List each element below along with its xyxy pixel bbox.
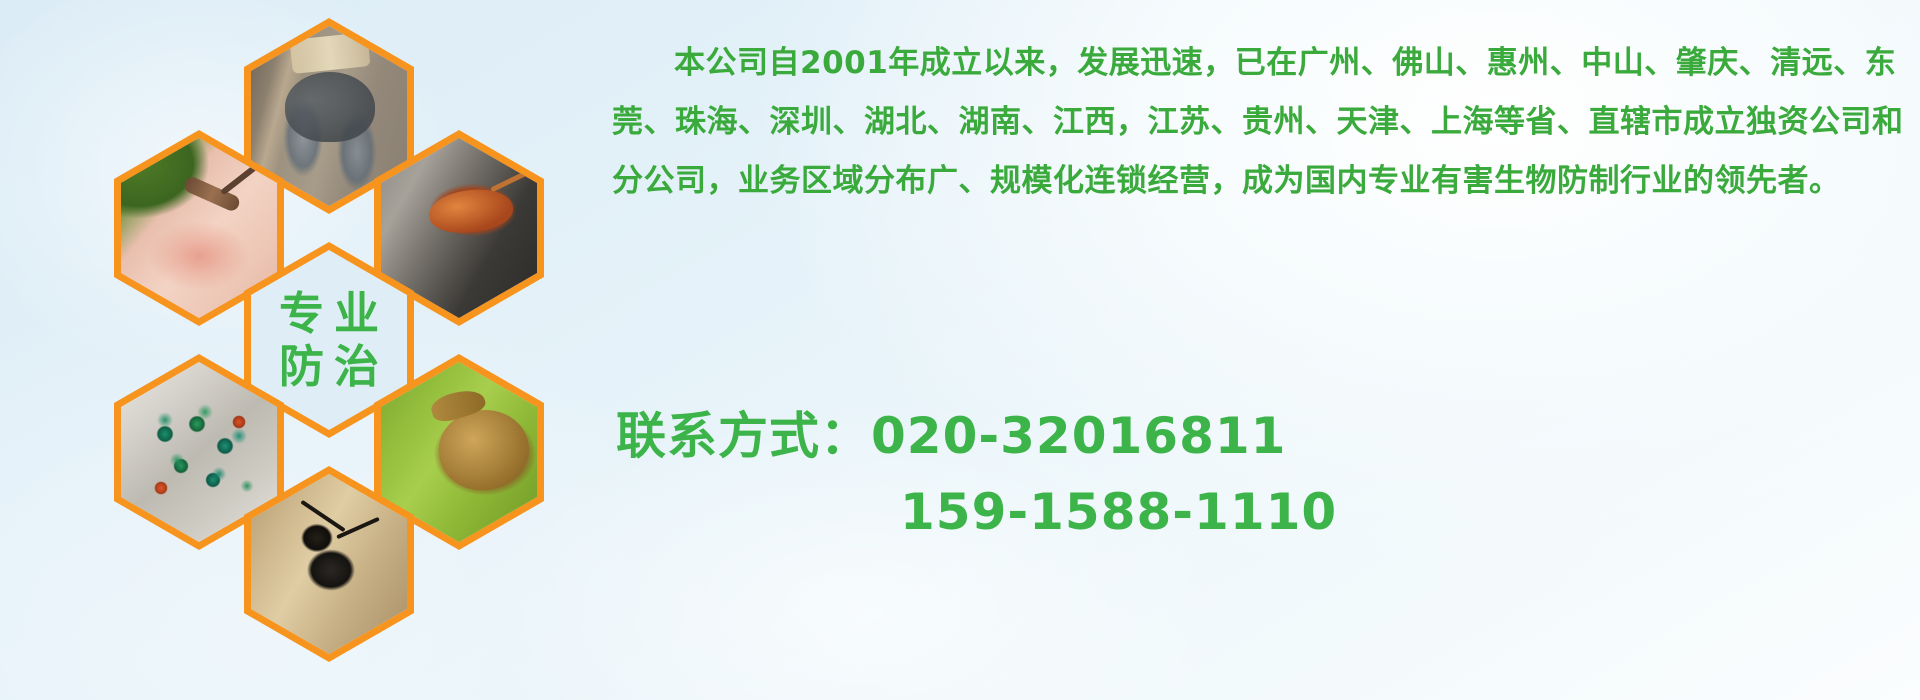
contact-line-primary[interactable]: 联系方式：020-32016811 [616,398,1916,474]
ant-photo-icon [251,474,407,654]
promo-banner: 专业 防治 本公司自2001年成立以来，发展迅速，已在广州、佛山、惠州、中山、肇… [0,0,1920,700]
company-intro-paragraph: 本公司自2001年成立以来，发展迅速，已在广州、佛山、惠州、中山、肇庆、清远、东… [612,34,1908,211]
contact-block: 联系方式：020-32016811 159-1588-1110 [616,398,1916,550]
contact-line-secondary[interactable]: 159-1588-1110 [616,474,1916,550]
company-intro: 本公司自2001年成立以来，发展迅速，已在广州、佛山、惠州、中山、肇庆、清远、东… [612,34,1908,211]
slogan-line-2: 防治 [269,340,389,393]
slogan-line-1: 专业 [269,287,389,340]
honeycomb-slogan: 专业 防治 [269,287,389,393]
honeycomb-collage: 专业 防治 [96,16,596,576]
